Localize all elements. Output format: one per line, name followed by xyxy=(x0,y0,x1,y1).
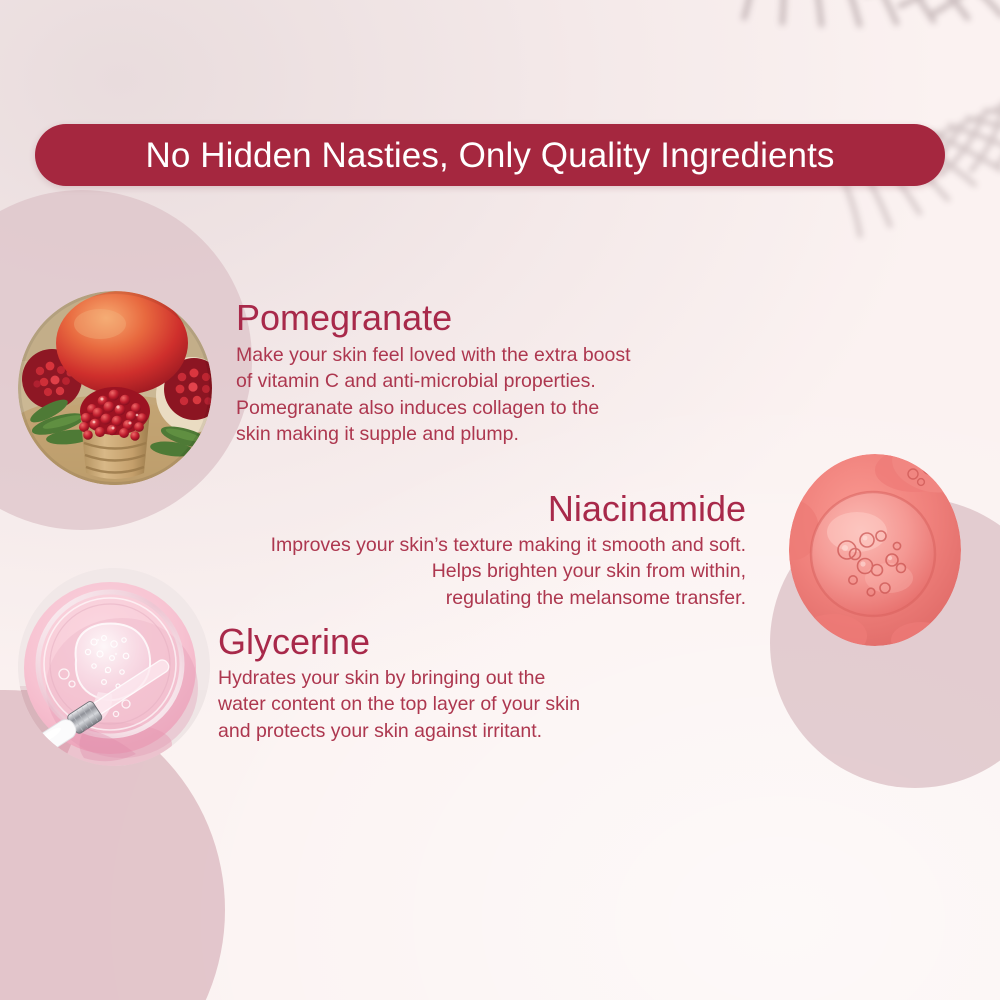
desc-line: regulating the melansome transfer. xyxy=(218,585,746,612)
desc-line: skin making it supple and plump. xyxy=(236,421,631,448)
header-banner: No Hidden Nasties, Only Quality Ingredie… xyxy=(35,124,945,186)
ingredient-title-glycerine: Glycerine xyxy=(218,622,580,662)
ingredient-niacinamide: Niacinamide Improves your skin’s texture… xyxy=(218,489,746,611)
desc-line: Pomegranate also induces collagen to the xyxy=(236,395,631,422)
ingredient-title-pomegranate: Pomegranate xyxy=(236,298,631,338)
ingredient-description-niacinamide: Improves your skin’s texture making it s… xyxy=(218,532,746,612)
desc-line: Improves your skin’s texture making it s… xyxy=(218,532,746,559)
ingredients-infographic: No Hidden Nasties, Only Quality Ingredie… xyxy=(0,0,1000,1000)
desc-line: water content on the top layer of your s… xyxy=(218,691,580,718)
desc-line: of vitamin C and anti-microbial properti… xyxy=(236,368,631,395)
glycerine-photo xyxy=(18,568,210,766)
pomegranate-photo xyxy=(18,291,212,485)
niacinamide-photo xyxy=(789,454,961,646)
desc-line: and protects your skin against irritant. xyxy=(218,718,580,745)
desc-line: Helps brighten your skin from within, xyxy=(218,558,746,585)
ingredient-title-niacinamide: Niacinamide xyxy=(218,489,746,529)
ingredient-description-glycerine: Hydrates your skin by bringing out the w… xyxy=(218,665,580,745)
banner-title: No Hidden Nasties, Only Quality Ingredie… xyxy=(145,138,834,173)
ingredient-pomegranate: Pomegranate Make your skin feel loved wi… xyxy=(236,298,631,448)
ingredient-description-pomegranate: Make your skin feel loved with the extra… xyxy=(236,342,631,448)
ingredient-glycerine: Glycerine Hydrates your skin by bringing… xyxy=(218,622,580,744)
desc-line: Make your skin feel loved with the extra… xyxy=(236,342,631,369)
desc-line: Hydrates your skin by bringing out the xyxy=(218,665,580,692)
